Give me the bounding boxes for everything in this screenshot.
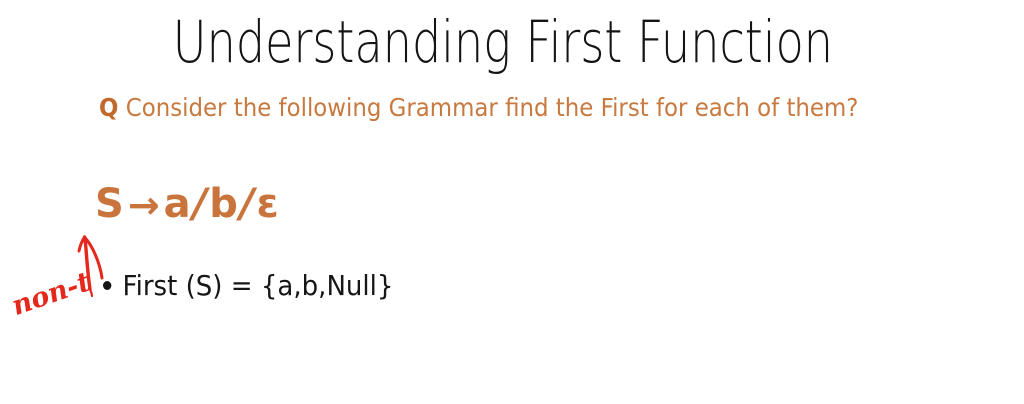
answer-list-item: First (S) = {a,b,Null} [103, 267, 393, 305]
page-title: Understanding First Function [93, 6, 912, 78]
grammar-production: S→a/b/ε [95, 177, 280, 231]
grammar-production-b: b [209, 181, 239, 227]
grammar-separator-1: / [192, 181, 210, 227]
grammar-separator-2: / [239, 181, 257, 227]
annotation-arrow-head-icon [79, 237, 85, 251]
bullet-icon [103, 281, 111, 290]
question-marker: Q [99, 93, 118, 122]
question-prompt: Q Consider the following Grammar find th… [99, 91, 858, 125]
grammar-nonterminal-S: S [95, 181, 125, 227]
answer-text: First (S) = {a,b,Null} [123, 269, 394, 302]
annotation-arrow-hook-icon [85, 237, 103, 278]
grammar-production-epsilon: ε [257, 181, 280, 227]
question-text: Consider the following Grammar find the … [118, 93, 858, 122]
grammar-production-a: a [164, 181, 192, 227]
slide-canvas: Understanding First Function Q Consider … [0, 0, 1024, 404]
annotation-label-non-terminal: non-t [8, 267, 94, 322]
right-arrow-icon: → [125, 183, 164, 227]
